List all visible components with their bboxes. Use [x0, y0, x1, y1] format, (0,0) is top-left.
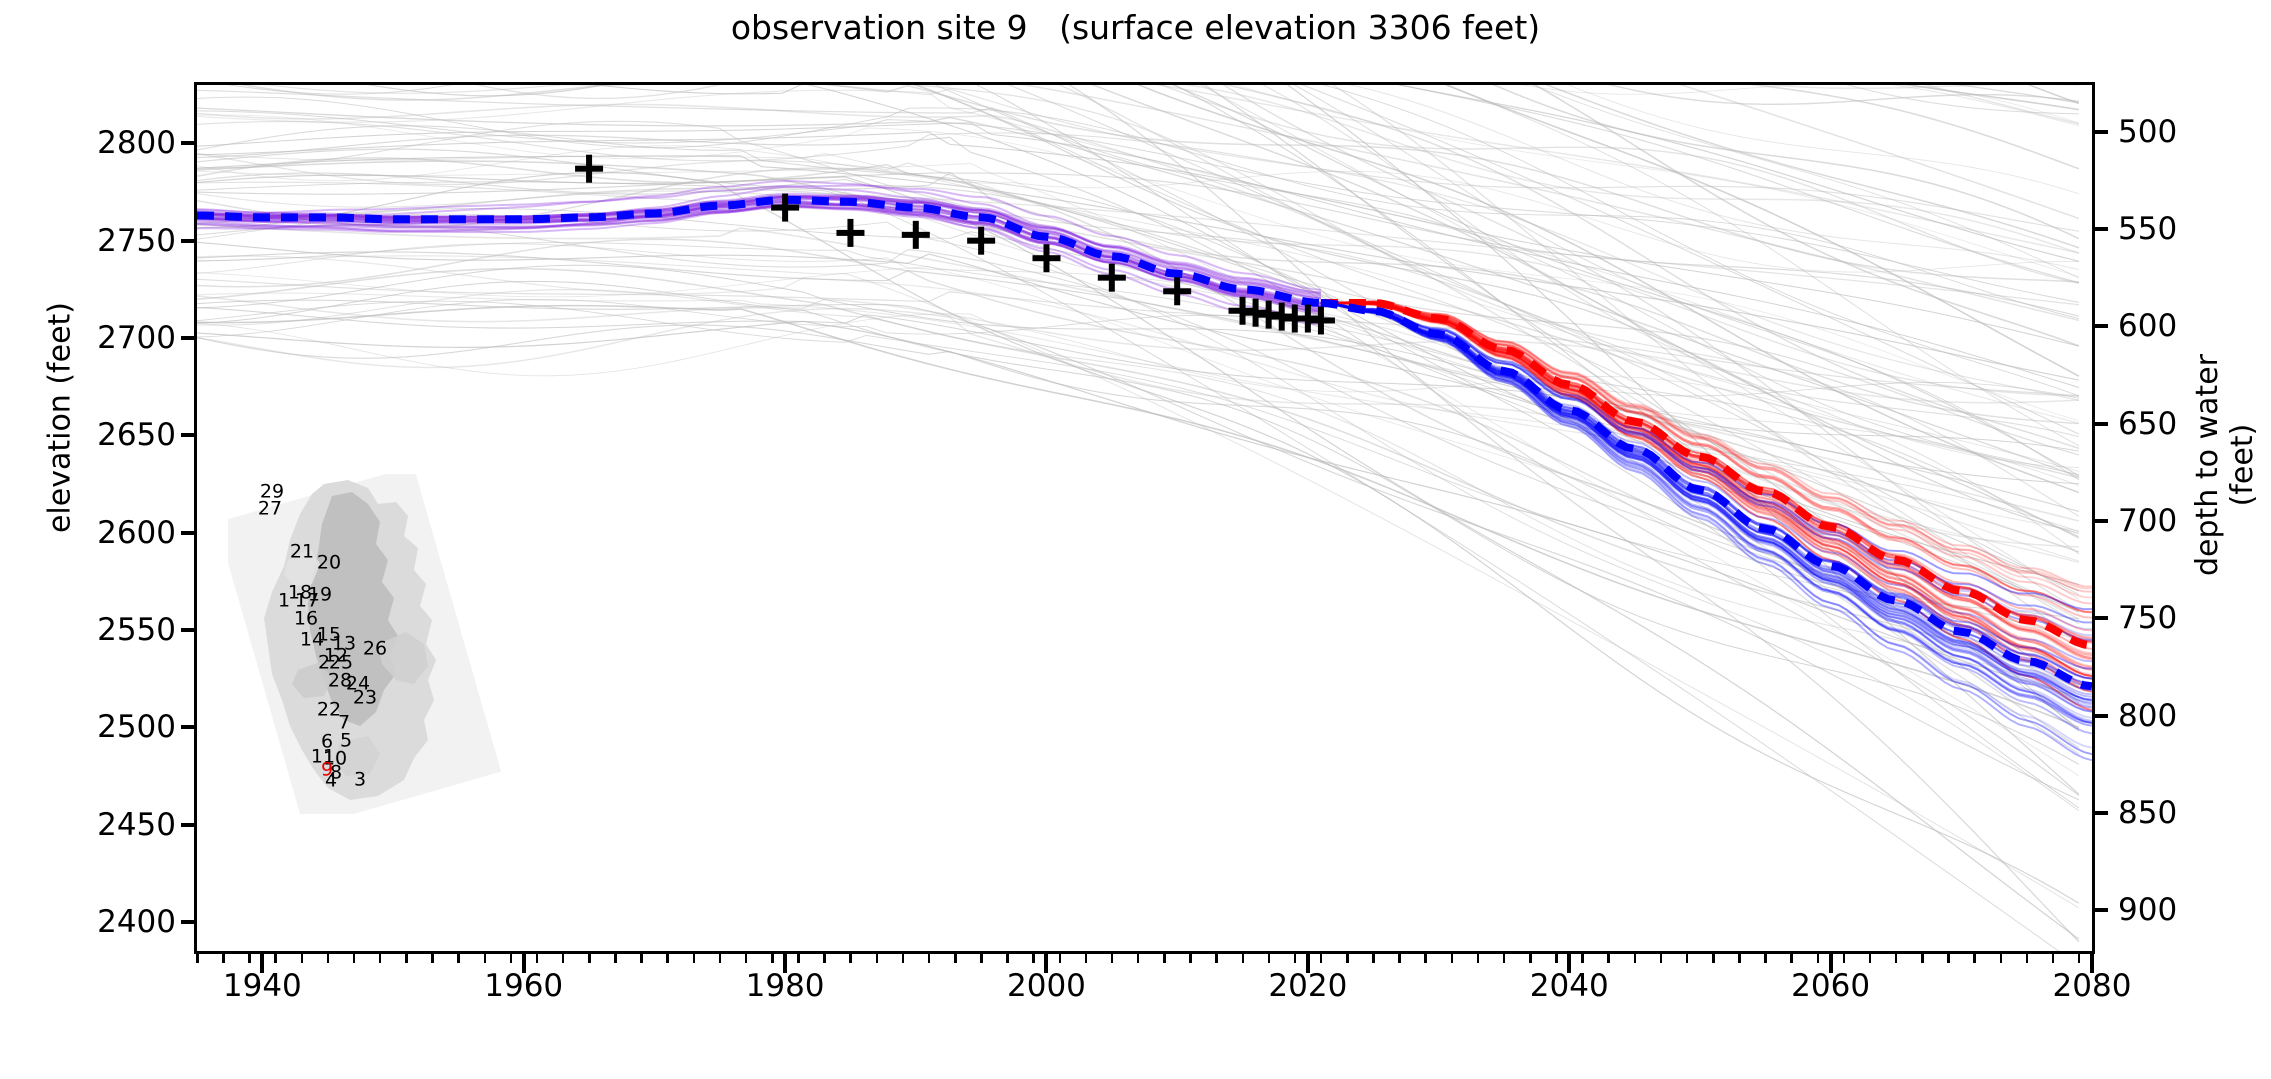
y-axis-left-tick-label: 2400: [97, 904, 176, 940]
x-axis-major-tick-mark: [260, 951, 264, 973]
y-axis-left-tick-label: 2550: [97, 612, 176, 648]
y-axis-left-tick-label: 2500: [97, 709, 176, 745]
observation-marker: [902, 221, 930, 249]
x-axis-tick-label: 1980: [746, 968, 825, 1004]
y-axis-right-tick-label: 650: [2118, 406, 2177, 442]
page-title: observation site 9 (surface elevation 33…: [0, 8, 2271, 47]
x-axis-major-tick-mark: [1829, 951, 1833, 973]
x-axis-major-tick-mark: [1306, 951, 1310, 973]
map-site-label-27[interactable]: 27: [258, 500, 282, 519]
x-axis-tick-label: 1940: [223, 968, 302, 1004]
site-location-map[interactable]: 2927212011817191614151326122252824232276…: [228, 474, 518, 814]
y-axis-right-tick-label: 500: [2118, 114, 2177, 150]
x-axis-tick-label: 2000: [1007, 968, 1086, 1004]
y-axis-right-tick-label: 550: [2118, 211, 2177, 247]
y-axis-left-tick-label: 2450: [97, 807, 176, 843]
map-site-label-3[interactable]: 3: [354, 771, 366, 790]
y-axis-right-tick-label: 700: [2118, 503, 2177, 539]
x-axis-major-tick-mark: [783, 951, 787, 973]
scenario-low-ensemble: [1321, 303, 2092, 760]
map-site-label-23[interactable]: 23: [353, 689, 377, 708]
map-site-label-19[interactable]: 19: [308, 586, 332, 605]
map-site-label-16[interactable]: 16: [294, 610, 318, 629]
x-axis-tick-label: 2080: [2053, 968, 2132, 1004]
x-axis-tick-label: 2040: [1530, 968, 1609, 1004]
y-axis-left-tick-label: 2750: [97, 223, 176, 259]
x-axis-major-tick-mark: [1567, 951, 1571, 973]
x-axis-major-tick-mark: [2090, 951, 2094, 973]
x-axis-tick-label: 2020: [1268, 968, 1347, 1004]
x-axis-major-tick-mark: [522, 951, 526, 973]
map-site-label-20[interactable]: 20: [317, 554, 341, 573]
y-axis-left-tick-label: 2700: [97, 320, 176, 356]
y-axis-right-label: depth to water (feet): [2190, 315, 2260, 615]
y-axis-left-label: elevation (feet): [43, 288, 78, 548]
chart-page: observation site 9 (surface elevation 33…: [0, 0, 2271, 1079]
x-axis-major-tick-mark: [1044, 951, 1048, 973]
y-axis-left-tick-label: 2650: [97, 417, 176, 453]
y-axis-right-tick-label: 800: [2118, 698, 2177, 734]
y-axis-right-tick-label: 750: [2118, 600, 2177, 636]
y-axis-left-tick-label: 2800: [97, 125, 176, 161]
y-axis-left-tick-label: 2600: [97, 515, 176, 551]
x-axis-tick-label: 2060: [1791, 968, 1870, 1004]
map-site-label-26[interactable]: 26: [363, 640, 387, 659]
map-site-label-4[interactable]: 4: [325, 772, 337, 791]
y-axis-right-tick-label: 850: [2118, 795, 2177, 831]
y-axis-right-tick-label: 600: [2118, 308, 2177, 344]
map-site-label-21[interactable]: 21: [290, 543, 314, 562]
x-axis-tick-label: 1960: [484, 968, 563, 1004]
y-axis-right-tick-label: 900: [2118, 892, 2177, 928]
